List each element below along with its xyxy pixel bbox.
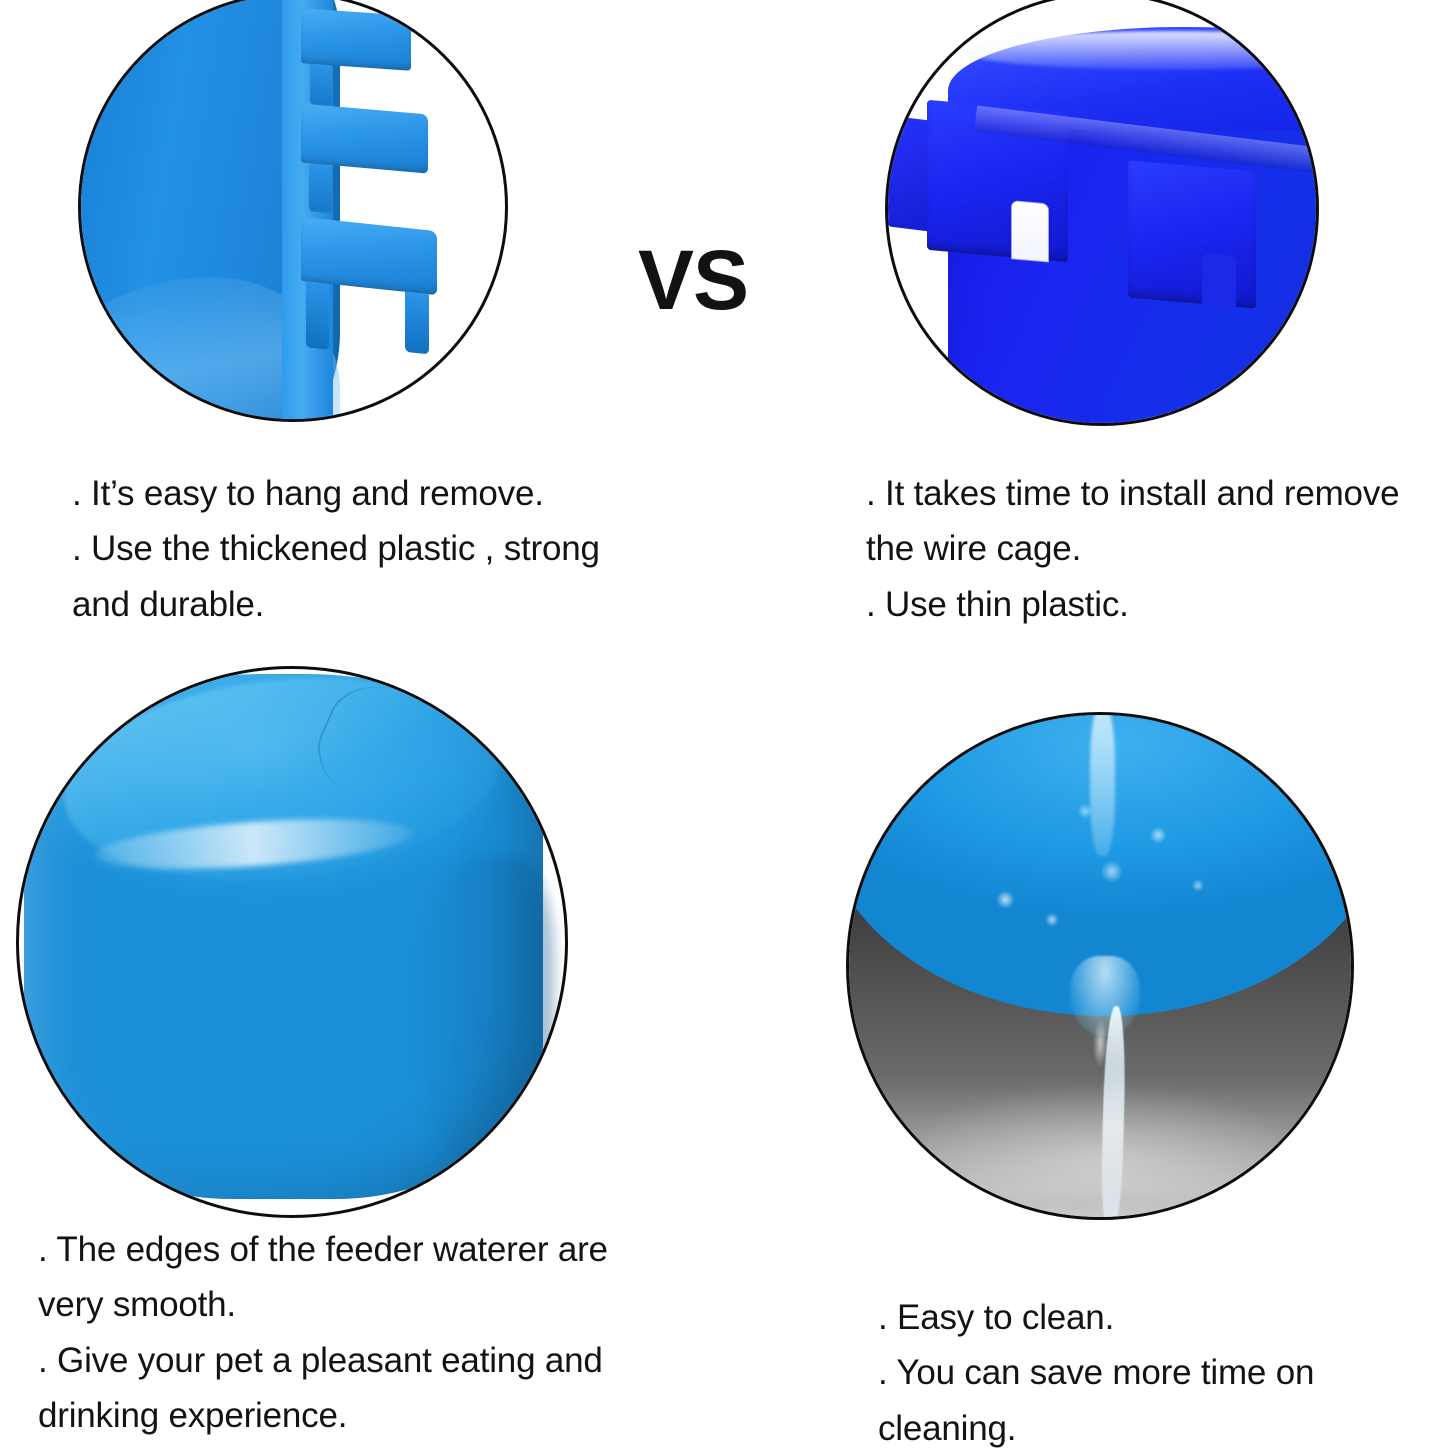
caption-line: and durable. <box>72 577 712 632</box>
feeder-smooth-edge-closeup-image <box>16 666 568 1218</box>
hook-clip-lower <box>301 217 437 295</box>
feeder-hook-clip-closeup-image <box>78 0 508 422</box>
caption-line: . It’s easy to hang and remove. <box>72 466 712 521</box>
left-bottom-caption-block: . The edges of the feeder waterer are ve… <box>38 1222 698 1443</box>
cage-clip-left-notch <box>1011 201 1048 261</box>
cage-clip-right <box>1128 161 1256 309</box>
cage-clip-right-notch <box>1202 253 1235 308</box>
photo-content <box>81 0 505 419</box>
hook-clip-upper <box>301 8 411 71</box>
background-mist <box>889 1086 1311 1196</box>
thin-plastic-cage-clip-closeup-image <box>885 0 1319 426</box>
caption-line: . It takes time to install and remove <box>866 466 1453 521</box>
hook-clip-middle <box>301 104 428 174</box>
caption-line: very smooth. <box>38 1277 698 1332</box>
caption-line: . Use the thickened plastic , strong <box>72 521 712 576</box>
bowl-side-shadow <box>412 855 554 1172</box>
caption-line: . Give your pet a pleasant eating and <box>38 1333 698 1388</box>
right-bottom-caption-block: . Easy to clean. . You can save more tim… <box>878 1290 1438 1456</box>
caption-line: cleaning. <box>878 1401 1438 1456</box>
comparison-infographic: VS . It’s easy to hang and remove. . Use… <box>0 0 1453 1453</box>
pouring-water-cleaning-closeup-image <box>846 712 1354 1220</box>
photo-content <box>849 715 1351 1217</box>
caption-line: drinking experience. <box>38 1388 698 1443</box>
caption-line: . You can save more time on <box>878 1345 1438 1400</box>
vs-divider-label: VS <box>618 238 768 322</box>
caption-line: . The edges of the feeder waterer are <box>38 1222 698 1277</box>
caption-line: the wire cage. <box>866 521 1453 576</box>
caption-line: . Use thin plastic. <box>866 577 1453 632</box>
photo-content <box>888 0 1316 423</box>
photo-content <box>19 669 565 1215</box>
right-top-caption-block: . It takes time to install and remove th… <box>866 466 1453 632</box>
water-bubbles <box>939 775 1270 976</box>
left-top-caption-block: . It’s easy to hang and remove. . Use th… <box>72 466 712 632</box>
caption-line: . Easy to clean. <box>878 1290 1438 1345</box>
